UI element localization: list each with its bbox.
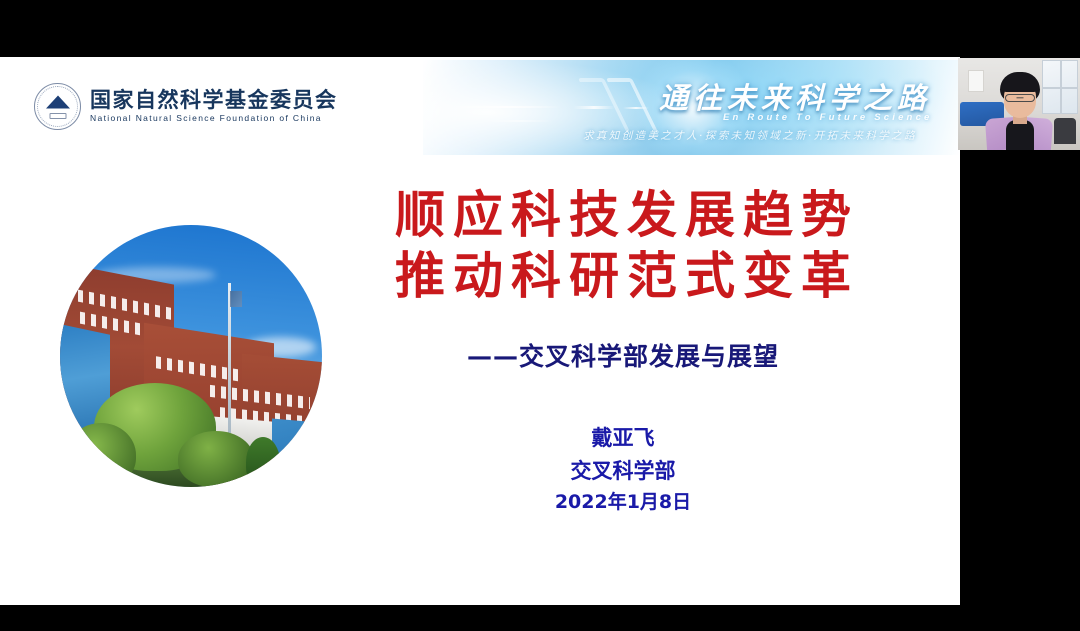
nsfc-name-chinese: 国家自然科学基金委员会 [90,89,338,112]
speaker-video-tile[interactable] [958,58,1080,150]
chair-back [1054,118,1076,144]
presentation-date: 2022年1月8日 [323,487,923,517]
nsfc-logo-lockup: 国家自然科学基金委员会 National Natural Science Fou… [34,83,338,130]
speaker-avatar [986,72,1052,150]
tech-banner: 通往未来科学之路 En Route To Future Science 求真知创… [423,60,960,155]
banner-streak-icon [483,120,553,122]
presenter-department: 交叉科学部 [323,455,923,488]
screen-share-window: 国家自然科学基金委员会 National Natural Science Fou… [0,0,1080,631]
nsfc-logo-text: 国家自然科学基金委员会 National Natural Science Fou… [90,89,338,123]
glasses-icon [1005,94,1035,102]
banner-subtitle-chinese: 求真知创造美之才人·探索未知领域之新·开拓未来科学之路 [583,128,917,143]
presentation-slide[interactable]: 国家自然科学基金委员会 National Natural Science Fou… [0,57,960,605]
campus-building-photo [60,225,322,487]
slide-headline: 顺应科技发展趋势 推动科研范式变革 [323,185,923,307]
slide-subtitle: ——交叉科学部发展与展望 [323,337,923,373]
headline-line-2: 推动科研范式变革 [323,246,923,307]
presenter-name: 戴亚飞 [323,422,923,455]
nsfc-mountain-emblem-icon [34,83,81,130]
nsfc-name-english: National Natural Science Foundation of C… [90,114,338,123]
banner-streak-icon [451,106,561,108]
wall-art [968,70,984,92]
presenter-block: 戴亚飞 交叉科学部 2022年1月8日 [323,422,923,517]
banner-title-chinese: 通往未来科学之路 [659,75,931,117]
headline-line-1: 顺应科技发展趋势 [323,185,923,246]
banner-subtitle-english: En Route To Future Science [723,112,933,123]
